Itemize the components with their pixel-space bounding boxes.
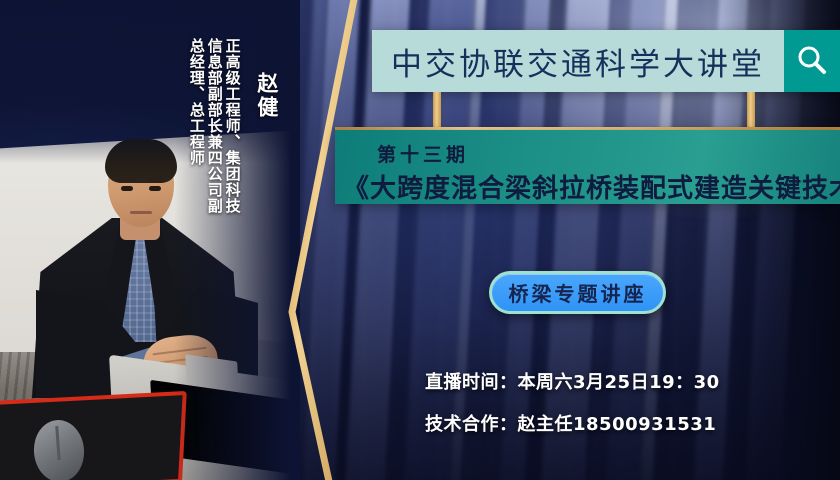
speaker-title-line-1: 正高级工程师、集团科技 — [224, 38, 240, 214]
lecture-category-badge[interactable]: 桥梁专题讲座 — [489, 271, 666, 314]
speaker-name: 赵健 — [256, 72, 278, 120]
speaker-title-line-2: 信息部副部长兼四公司副 — [206, 38, 222, 214]
gold-connector-right — [747, 92, 755, 132]
badge-label: 桥梁专题讲座 — [509, 278, 647, 307]
contact-text: 技术合作：赵主任18500931531 — [425, 410, 716, 436]
gold-connector-left — [433, 92, 441, 132]
speaker-info-vertical: 赵健 正高级工程师、集团科技 信息部副部长兼四公司副 总经理、总工程师 — [188, 14, 278, 214]
webinar-poster: 中交协联交通科学大讲堂 第十三期 《大跨度混合梁斜拉桥装配式建造关键技术》 桥梁… — [0, 0, 840, 480]
topic-title: 《大跨度混合梁斜拉桥装配式建造关键技术》 — [343, 168, 840, 205]
episode-label: 第十三期 — [377, 140, 469, 167]
search-icon — [795, 44, 829, 78]
page-title: 中交协联交通科学大讲堂 — [391, 39, 765, 84]
main-title-box: 中交协联交通科学大讲堂 — [372, 30, 784, 92]
gold-chevron-divider — [260, 0, 390, 480]
subtitle-banner: 第十三期 《大跨度混合梁斜拉桥装配式建造关键技术》 — [335, 130, 840, 204]
live-time-text: 直播时间：本周六3月25日19：30 — [425, 368, 720, 394]
search-icon-tile[interactable] — [784, 30, 840, 92]
main-title-banner: 中交协联交通科学大讲堂 — [372, 30, 840, 92]
speaker-title-line-3: 总经理、总工程师 — [188, 38, 204, 166]
